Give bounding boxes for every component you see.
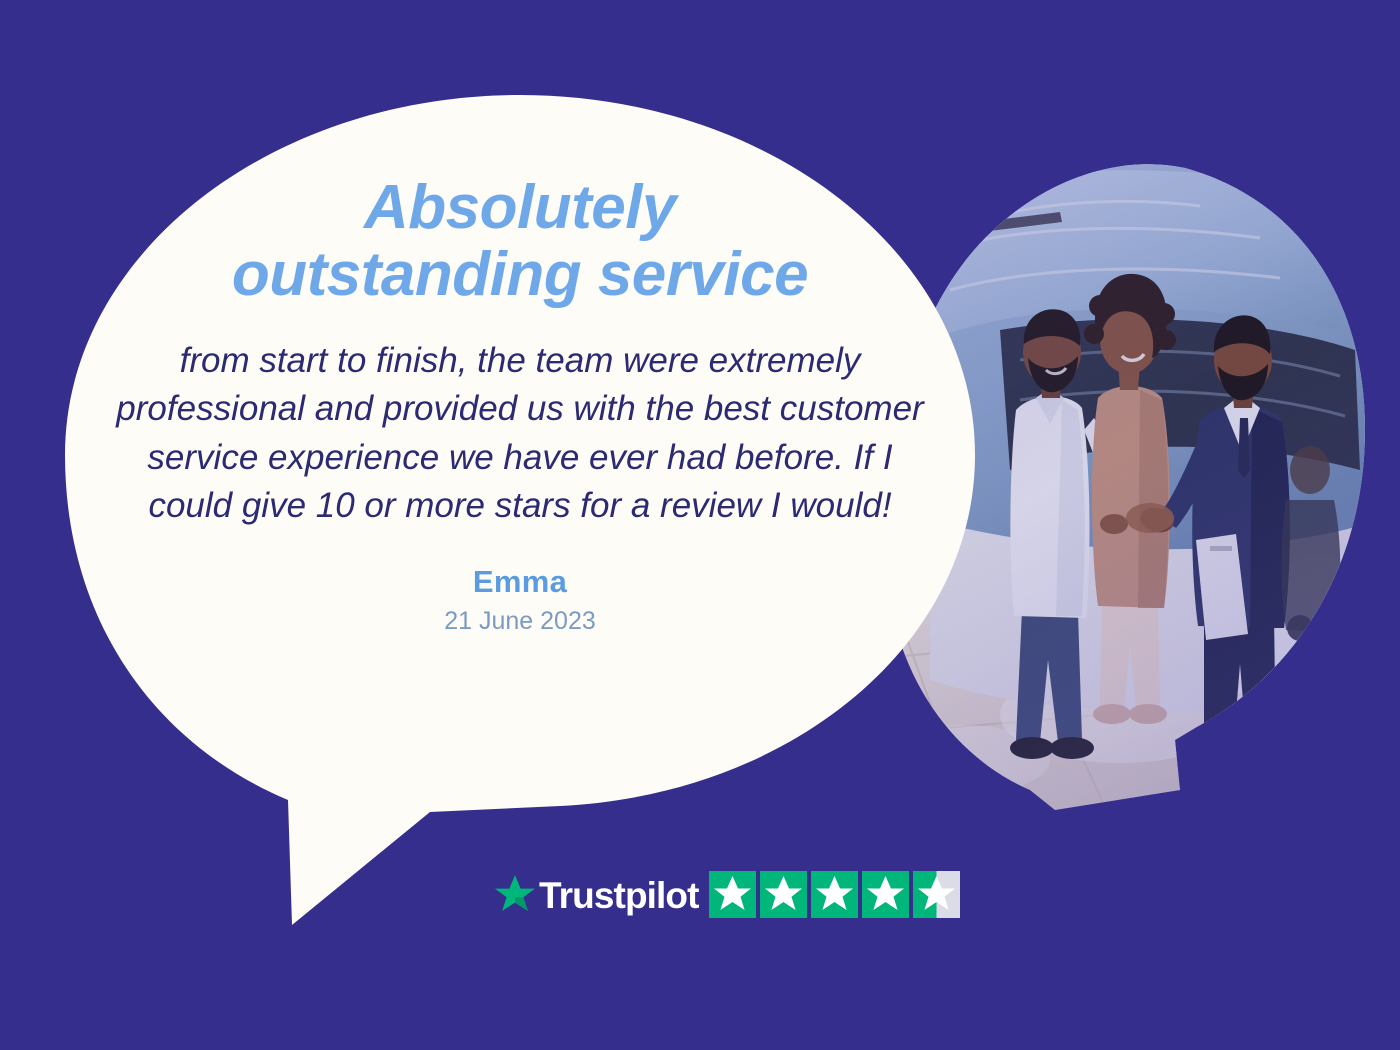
trustpilot-logo: Trustpilot [493, 873, 699, 915]
star-tile-2 [760, 871, 807, 918]
star-tile-3 [811, 871, 858, 918]
quote-bubble [65, 95, 975, 925]
star-tile-1 [709, 871, 756, 918]
trustpilot-rating[interactable]: Trustpilot [493, 868, 960, 920]
testimonial-graphic: Absolutely outstanding service from star… [0, 0, 1400, 1050]
star-tile-5 [913, 871, 960, 918]
trustpilot-wordmark: Trustpilot [539, 877, 699, 914]
star-tile-4 [862, 871, 909, 918]
trustpilot-star-icon [493, 873, 537, 915]
star-rating [709, 871, 960, 918]
